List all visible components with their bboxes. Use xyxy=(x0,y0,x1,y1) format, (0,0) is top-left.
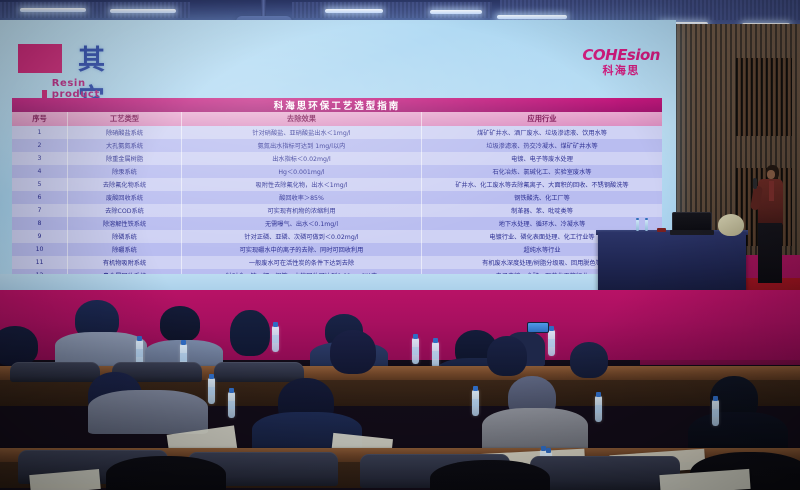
table-cell: 出水指标＜0.02mg/l xyxy=(182,152,422,165)
table-cell: 11 xyxy=(12,256,68,269)
table-cell: 地下水处理、循环水、冷凝水等 xyxy=(422,217,662,230)
ceiling-light xyxy=(110,9,176,13)
ceiling-light xyxy=(497,15,567,19)
presenter-tie xyxy=(769,181,774,201)
water-bottle xyxy=(595,396,602,422)
laptop-screen xyxy=(672,212,712,232)
logo-text-en: COHEsion xyxy=(582,48,660,63)
audience-head xyxy=(0,326,38,366)
table-cell: 去除氟化物系统 xyxy=(68,178,182,191)
table-cell: 除汞系统 xyxy=(68,165,182,178)
audience-head xyxy=(487,336,527,376)
audience-head xyxy=(230,310,270,356)
desk-item xyxy=(657,228,666,232)
table-row: 3除重金属树脂出水指标＜0.02mg/l电镀、电子等废水处理 xyxy=(12,152,662,165)
laptop-base xyxy=(670,230,714,235)
audience-head xyxy=(330,330,376,374)
table-header-cell: 工艺类型 xyxy=(68,112,182,126)
table-cell: 石化冶炼、氯碱化工、实验室废水等 xyxy=(422,165,662,178)
table-cell: 1 xyxy=(12,126,68,139)
table-cell: 制革器、苯、吡啶类等 xyxy=(422,204,662,217)
logo-text-cn: 科海思 xyxy=(582,65,660,76)
water-bottle xyxy=(636,220,639,231)
table-cell: 针对正磷、亚磷、次磷可做到＜0.02mg/l xyxy=(182,230,422,243)
presenter-table xyxy=(598,232,746,294)
table-cell: 无需曝气、出水＜0.1mg/l xyxy=(182,217,422,230)
foreground-attendee xyxy=(106,456,226,490)
table-cell: 废酸回收系统 xyxy=(68,191,182,204)
table-cell: 一般废水可在活性炭的条件下达到去除 xyxy=(182,256,422,269)
table-cell: 8 xyxy=(12,217,68,230)
foreground-attendee xyxy=(430,460,550,490)
table-row: 9除磷系统针对正磷、亚磷、次磷可做到＜0.02mg/l电镀行业、磷化表面处理、化… xyxy=(12,230,662,243)
water-bottle xyxy=(712,400,719,426)
seat-back xyxy=(10,362,100,382)
wall-slat-panel xyxy=(736,58,792,136)
table-header-cell: 序号 xyxy=(12,112,68,126)
audience-head xyxy=(570,342,608,378)
table-cell: 可实现硼水中的离子的去除、同时可回收利用 xyxy=(182,243,422,256)
company-logo: COHEsion 科海思 xyxy=(582,48,660,76)
audience-area xyxy=(0,300,800,490)
audience-shoulders xyxy=(88,390,208,434)
table-cell: 3 xyxy=(12,152,68,165)
table-row: 1除硝酸盐系统针对硝酸盐、亚硝酸盐出水＜1mg/l煤矿矿井水、酒厂废水、垃圾渗滤… xyxy=(12,126,662,139)
ceiling-light xyxy=(20,8,86,12)
table-cell: 4 xyxy=(12,165,68,178)
header-accent-square xyxy=(18,44,62,73)
table-cell: 7 xyxy=(12,204,68,217)
table-row: 6废酸回收系统酸回收率＞85%钢铁酸洗、化工厂等 xyxy=(12,191,662,204)
ceiling-light xyxy=(430,10,482,14)
ceiling-light xyxy=(325,9,383,13)
table-row: 4除汞系统Hg＜0.001mg/l石化冶炼、氯碱化工、实验室废水等 xyxy=(12,165,662,178)
table-cell: 吸附性去除氟化物，出水＜1mg/l xyxy=(182,178,422,191)
table-row: 2大孔氨氮系统氨氮出水指标可达到 1mg/l以内垃圾渗滤液、热交冷凝水、煤矿矿井… xyxy=(12,139,662,152)
table-cell: 6 xyxy=(12,191,68,204)
water-bottle xyxy=(548,330,555,356)
presenter-legs xyxy=(758,223,782,283)
table-cell: 大孔氨氮系统 xyxy=(68,139,182,152)
table-cell: 氨氮出水指标可达到 1mg/l以内 xyxy=(182,139,422,152)
slide-table: 科海思环保工艺选型指南 序号 工艺类型 去除效果 应用行业 1除硝酸盐系统针对硝… xyxy=(12,98,662,282)
audience-shoulders xyxy=(55,332,147,366)
table-row: 7去除COD系统可实现有机物的浓缩利用制革器、苯、吡啶类等 xyxy=(12,204,662,217)
table-cell: 除重金属树脂 xyxy=(68,152,182,165)
table-cell: 除溶解性铁系统 xyxy=(68,217,182,230)
table-cell: 9 xyxy=(12,230,68,243)
table-cell: 10 xyxy=(12,243,68,256)
conference-photo-scene: 其它工艺系列 Resin product series COHEsion 科海思… xyxy=(0,0,800,490)
table-cell: 除硝酸盐系统 xyxy=(68,126,182,139)
table-cell: 可实现有机物的浓缩利用 xyxy=(182,204,422,217)
table-cell: 垃圾渗滤液、热交冷凝水、煤矿矿井水等 xyxy=(422,139,662,152)
water-bottle xyxy=(272,326,279,352)
table-cell: 有机物吸附系统 xyxy=(68,256,182,269)
table-row: 8除溶解性铁系统无需曝气、出水＜0.1mg/l地下水处理、循环水、冷凝水等 xyxy=(12,217,662,230)
table-cell: 针对硝酸盐、亚硝酸盐出水＜1mg/l xyxy=(182,126,422,139)
table-cell: 除硼系统 xyxy=(68,243,182,256)
table-cell: 钢铁酸洗、化工厂等 xyxy=(422,191,662,204)
table-row: 10除硼系统可实现硼水中的离子的去除、同时可回收利用超纯水等行业 xyxy=(12,243,662,256)
table-cell: 除磷系统 xyxy=(68,230,182,243)
table-header-cell: 去除效果 xyxy=(182,112,422,126)
table-cell: 矿井水、化工废水等去除氟离子、大面积的回收、不锈钢酸洗等 xyxy=(422,178,662,191)
water-bottle xyxy=(412,338,419,364)
stage-prop xyxy=(718,214,744,236)
table-cell: 去除COD系统 xyxy=(68,204,182,217)
water-bottle xyxy=(472,390,479,416)
seat-back xyxy=(530,456,680,490)
water-bottle xyxy=(432,342,439,368)
table-header-cell: 应用行业 xyxy=(422,112,662,126)
table-cell: 电镀、电子等废水处理 xyxy=(422,152,662,165)
table-cell: 5 xyxy=(12,178,68,191)
presenter-face xyxy=(767,170,775,179)
table-body: 1除硝酸盐系统针对硝酸盐、亚硝酸盐出水＜1mg/l煤矿矿井水、酒厂废水、垃圾渗滤… xyxy=(12,126,662,282)
audience-shoulders xyxy=(482,408,588,452)
seat-back xyxy=(214,362,304,382)
table-caption: 科海思环保工艺选型指南 xyxy=(12,98,662,112)
table-cell: Hg＜0.001mg/l xyxy=(182,165,422,178)
audience-head xyxy=(160,306,200,342)
projection-screen: 其它工艺系列 Resin product series COHEsion 科海思… xyxy=(0,20,676,274)
table-cell: 2 xyxy=(12,139,68,152)
table-row: 11有机物吸附系统一般废水可在活性炭的条件下达到去除有机废水深度处理/树脂分级吸… xyxy=(12,256,662,269)
table-row: 5去除氟化物系统吸附性去除氟化物，出水＜1mg/l矿井水、化工废水等去除氟离子、… xyxy=(12,178,662,191)
table-cell: 酸回收率＞85% xyxy=(182,191,422,204)
table-header-row: 序号 工艺类型 去除效果 应用行业 xyxy=(12,112,662,126)
water-bottle xyxy=(645,220,648,231)
water-bottle xyxy=(228,392,235,418)
microphone xyxy=(753,178,757,189)
water-bottle xyxy=(208,378,215,404)
table-cell: 煤矿矿井水、酒厂废水、垃圾渗滤液、饮用水等 xyxy=(422,126,662,139)
